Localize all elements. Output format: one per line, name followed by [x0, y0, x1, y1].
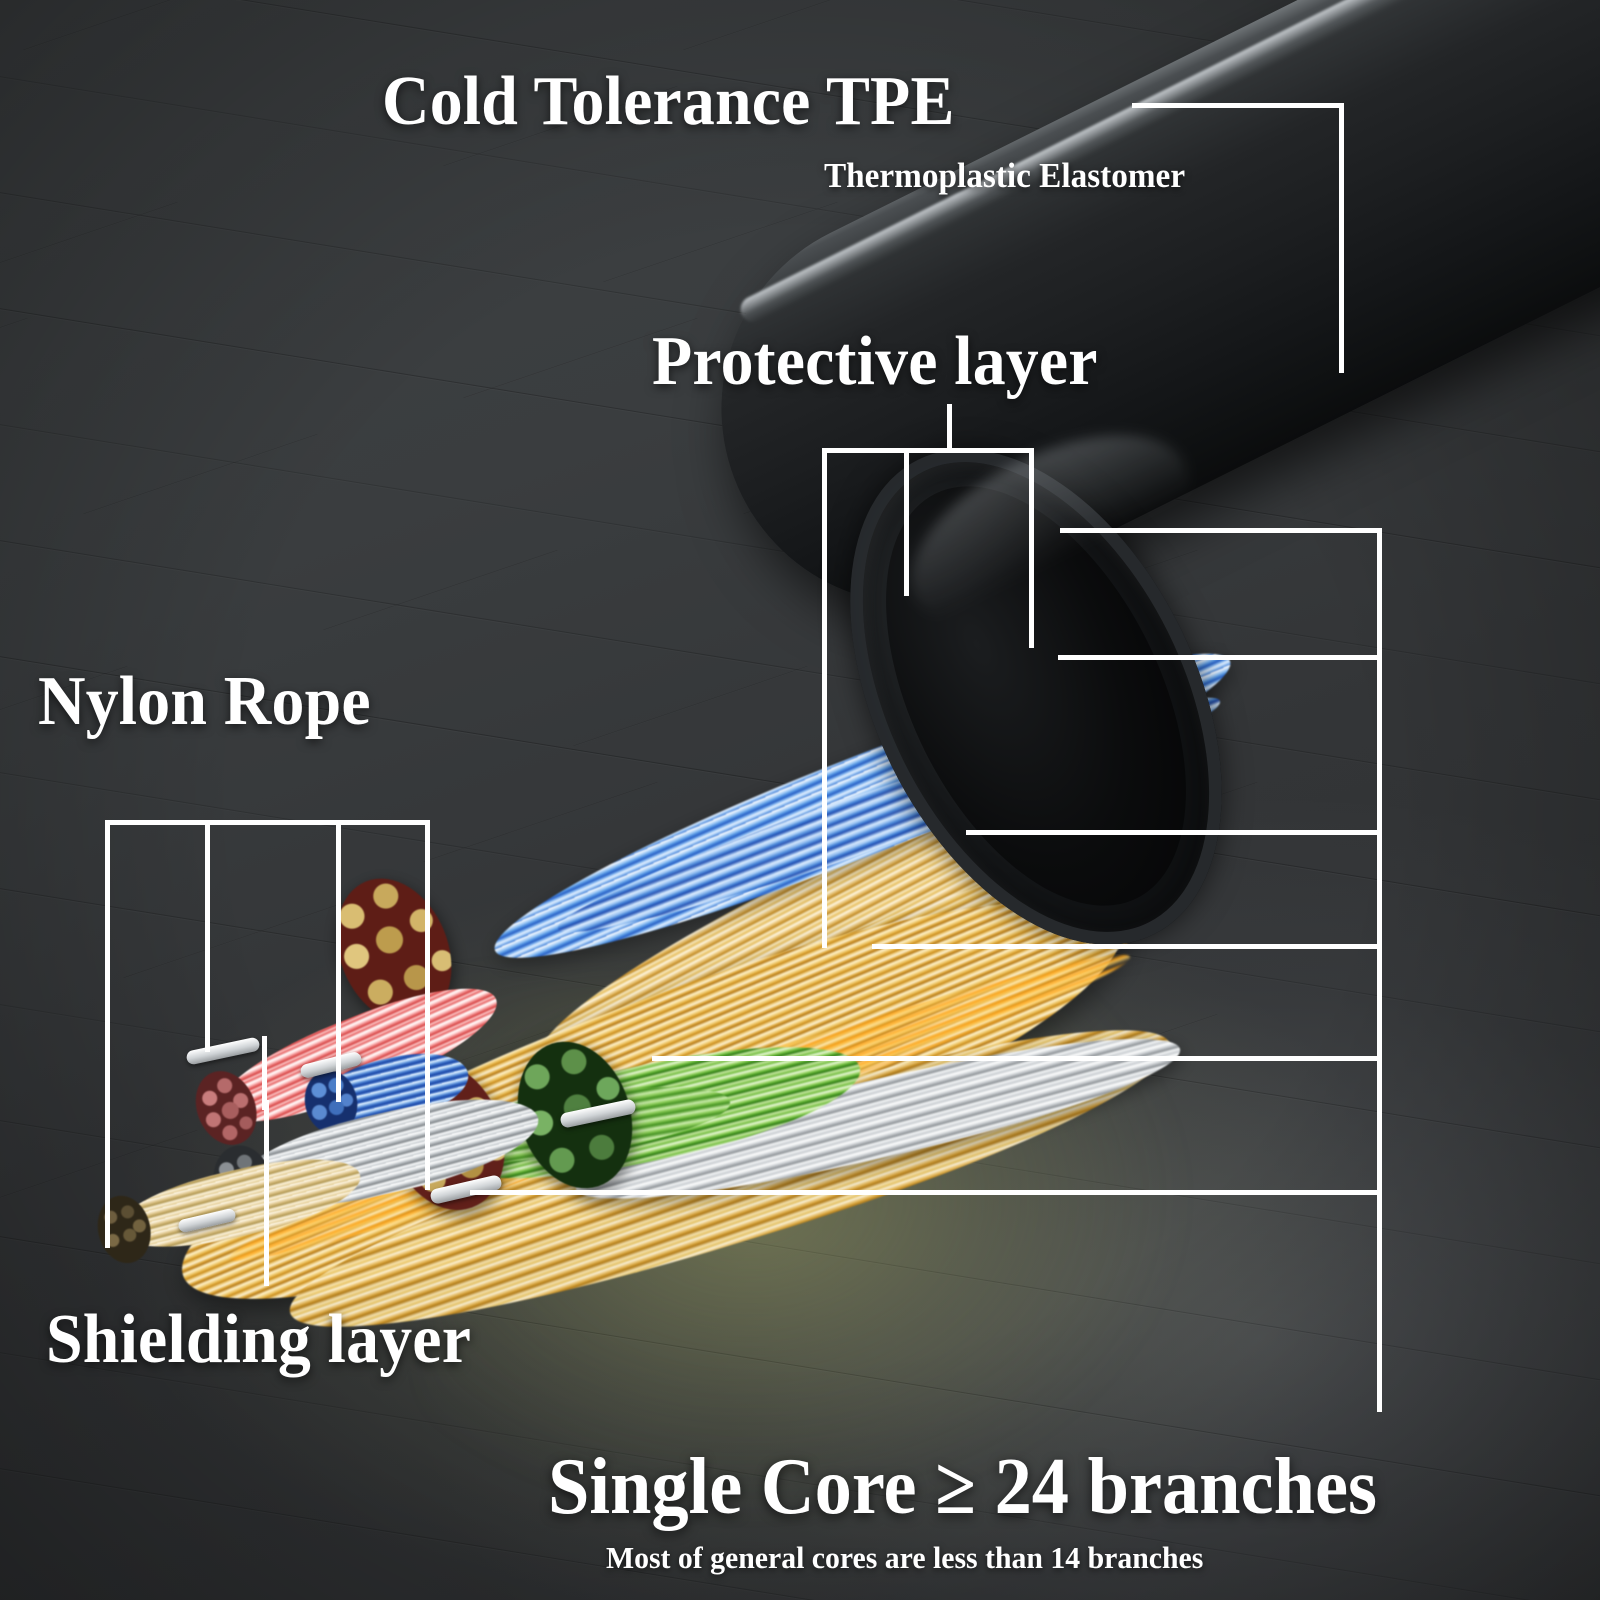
leader-core-rule-1 [1060, 528, 1382, 533]
leader-shielding-vertical [264, 1100, 269, 1286]
leader-tpe-horizontal [1132, 103, 1344, 108]
leader-core-rule-4 [872, 944, 1382, 949]
leader-protective-prong-2 [904, 448, 909, 596]
label-thermoplastic-elastomer: Thermoplastic Elastomer [824, 156, 1185, 196]
leader-core-rule-2 [1058, 655, 1382, 660]
leader-core-spine [1377, 528, 1382, 1412]
leader-protective-prong-1 [822, 448, 827, 948]
leader-core-rule-5 [652, 1056, 1382, 1061]
label-nylon-rope: Nylon Rope [38, 662, 371, 742]
leader-protective-crossbar [822, 448, 1034, 453]
label-core-comparison-note: Most of general cores are less than 14 b… [606, 1540, 1203, 1576]
leader-left-prong-3 [336, 820, 341, 1102]
leader-protective-stem [947, 404, 952, 452]
leader-left-prong-2 [205, 820, 210, 1052]
leader-core-rule-6 [470, 1190, 1382, 1195]
label-protective-layer: Protective layer [652, 322, 1098, 402]
leader-shielding-upper-stub [262, 1036, 267, 1110]
label-shielding-layer: Shielding layer [46, 1300, 471, 1380]
label-single-core-branches: Single Core ≥ 24 branches [548, 1442, 1377, 1533]
infographic-canvas: Cold Tolerance TPE Thermoplastic Elastom… [0, 0, 1600, 1600]
leader-core-rule-3 [966, 830, 1382, 835]
leader-tpe-vertical [1339, 103, 1344, 373]
leader-left-prong-1 [105, 820, 110, 1248]
leader-protective-prong-3 [1029, 448, 1034, 648]
label-cold-tolerance-tpe: Cold Tolerance TPE [382, 62, 955, 142]
leader-left-prong-4 [425, 820, 430, 1190]
leader-left-crossbar [105, 820, 430, 825]
